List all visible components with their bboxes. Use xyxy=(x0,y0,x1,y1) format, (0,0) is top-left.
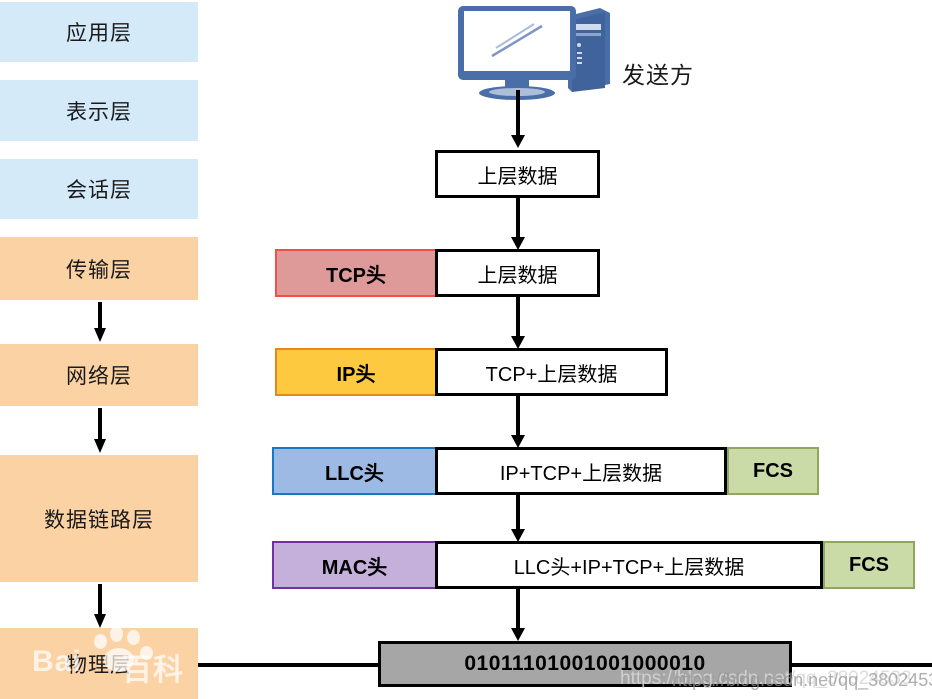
arrow-shaft xyxy=(98,302,102,328)
arrow-head xyxy=(511,628,525,641)
pdu-header-tcp[interactable]: TCP头 xyxy=(275,249,437,297)
flow-arrow-transport-to-network xyxy=(511,297,525,349)
bitstream-bar[interactable]: 01011101001001000010 xyxy=(378,641,792,687)
osi-flow-arrow-datalink-physical xyxy=(94,584,106,628)
pdu-header-label: LLC头 xyxy=(325,457,384,486)
pdu-payload-transport[interactable]: 上层数据 xyxy=(435,249,600,297)
arrow-shaft xyxy=(516,495,520,529)
pdu-upper-data[interactable]: 上层数据 xyxy=(435,150,600,198)
osi-layer-label: 物理层 xyxy=(66,649,132,679)
arrow-shaft xyxy=(516,396,520,435)
encapsulation-diagram: 应用层 表示层 会话层 传输层 网络层 数据链路层 物理层 xyxy=(0,0,932,699)
arrow-shaft xyxy=(516,198,520,237)
pdu-payload-label: 上层数据 xyxy=(478,160,558,189)
osi-layer-label: 网络层 xyxy=(66,360,132,390)
pdu-payload-label: IP+TCP+上层数据 xyxy=(500,457,662,486)
osi-layer-label: 数据链路层 xyxy=(44,504,154,534)
pdu-header-label: MAC头 xyxy=(322,551,388,580)
arrow-head xyxy=(94,439,106,453)
flow-arrow-network-to-llc xyxy=(511,396,525,448)
osi-layer-label: 表示层 xyxy=(66,96,132,126)
pdu-payload-llc[interactable]: IP+TCP+上层数据 xyxy=(435,447,727,495)
pdu-payload-mac[interactable]: LLC头+IP+TCP+上层数据 xyxy=(435,541,823,589)
osi-layer-physical[interactable]: 物理层 xyxy=(0,628,198,699)
physical-medium-line-right xyxy=(790,663,932,667)
pdu-header-mac[interactable]: MAC头 xyxy=(272,541,437,589)
pdu-trailer-label: FCS xyxy=(753,460,793,483)
arrow-shaft xyxy=(516,589,520,628)
osi-layer-transport[interactable]: 传输层 xyxy=(0,237,198,300)
osi-layer-label: 会话层 xyxy=(66,174,132,204)
osi-layer-session[interactable]: 会话层 xyxy=(0,159,198,219)
pdu-payload-label: 上层数据 xyxy=(478,259,558,288)
pdu-header-label: TCP头 xyxy=(326,259,386,288)
arrow-shaft xyxy=(516,297,520,336)
pdu-payload-network[interactable]: TCP+上层数据 xyxy=(435,348,668,396)
osi-layer-label: 应用层 xyxy=(66,17,132,47)
osi-layer-datalink[interactable]: 数据链路层 xyxy=(0,455,198,582)
pdu-payload-label: TCP+上层数据 xyxy=(486,358,618,387)
flow-arrow-computer-to-data xyxy=(511,90,525,148)
osi-layer-label: 传输层 xyxy=(66,254,132,284)
pdu-trailer-fcs-mac[interactable]: FCS xyxy=(823,541,915,589)
arrow-head xyxy=(94,328,106,342)
desktop-computer-icon xyxy=(450,2,615,100)
physical-medium-line-left xyxy=(198,663,380,667)
flow-arrow-llc-to-mac xyxy=(511,495,525,542)
arrow-shaft xyxy=(516,90,520,135)
arrow-shaft xyxy=(98,584,102,614)
pdu-payload-label: LLC头+IP+TCP+上层数据 xyxy=(514,551,745,580)
pdu-trailer-label: FCS xyxy=(849,554,889,577)
bitstream-value: 01011101001001000010 xyxy=(464,652,705,676)
pdu-header-label: IP头 xyxy=(337,358,376,387)
arrow-head xyxy=(94,614,106,628)
pdu-header-ip[interactable]: IP头 xyxy=(275,348,437,396)
osi-layer-application[interactable]: 应用层 xyxy=(0,2,198,62)
arrow-head xyxy=(511,135,525,148)
osi-flow-arrow-network-datalink xyxy=(94,408,106,453)
flow-arrow-mac-to-physical xyxy=(511,589,525,641)
osi-layer-network[interactable]: 网络层 xyxy=(0,344,198,406)
osi-flow-arrow-transport-network xyxy=(94,302,106,342)
pdu-header-llc[interactable]: LLC头 xyxy=(272,447,437,495)
arrow-shaft xyxy=(98,408,102,439)
flow-arrow-data-to-transport xyxy=(511,198,525,250)
osi-layer-presentation[interactable]: 表示层 xyxy=(0,80,198,141)
sender-label: 发送方 xyxy=(622,56,694,90)
pdu-trailer-fcs-llc[interactable]: FCS xyxy=(727,447,819,495)
